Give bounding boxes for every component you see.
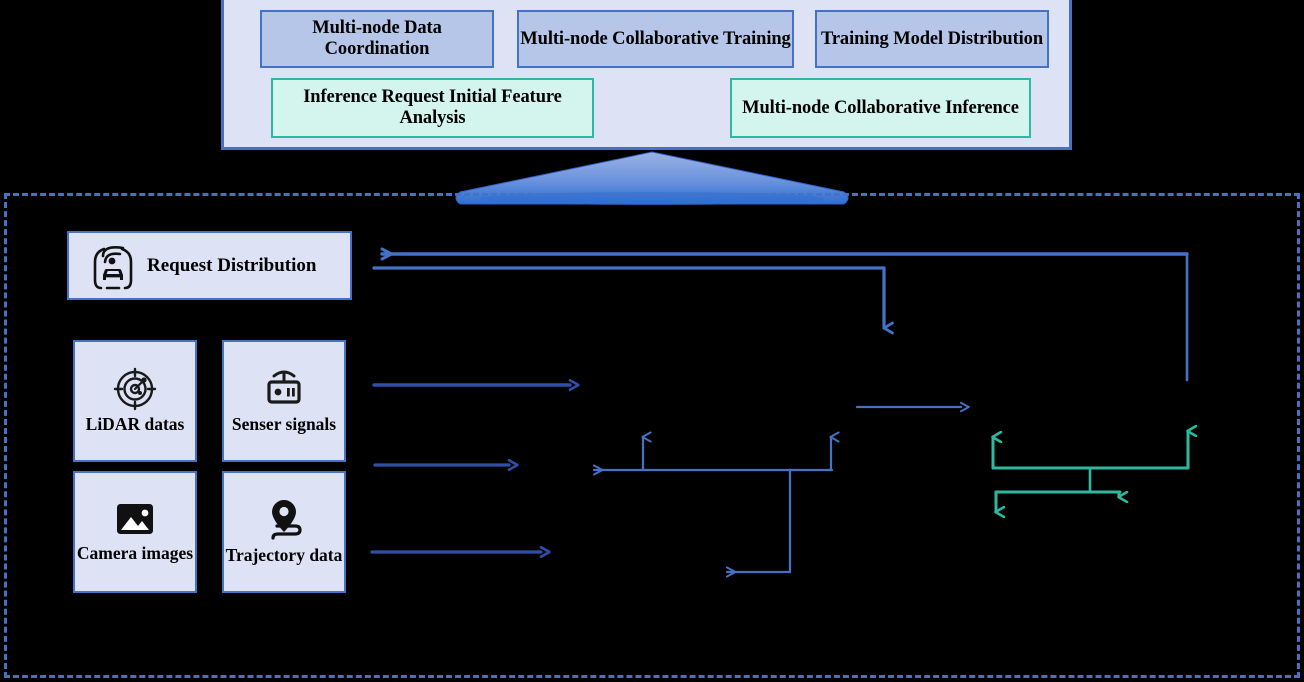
- node-label: Senser signals: [232, 415, 336, 434]
- panel-box-label: Multi-node Data Coordination: [262, 18, 492, 59]
- node-label: Trajectory data: [226, 546, 343, 565]
- node-trajectory-data[interactable]: Trajectory data: [222, 471, 346, 593]
- node-request-distribution-label: Request Distribution: [147, 255, 316, 277]
- map-pin-route-icon: [262, 498, 306, 542]
- photo-image-icon: [113, 500, 157, 540]
- node-lidar-datas[interactable]: LiDAR datas: [73, 340, 197, 462]
- diagram-canvas: Multi-node Data Coordination Multi-node …: [0, 0, 1304, 682]
- node-label: LiDAR datas: [86, 415, 185, 434]
- panel-box-label: Training Model Distribution: [821, 29, 1043, 50]
- connected-vehicle-signal-icon: [91, 242, 135, 290]
- node-senser-signals[interactable]: Senser signals: [222, 340, 346, 462]
- panel-box-multi-node-data-coordination[interactable]: Multi-node Data Coordination: [260, 10, 494, 68]
- panel-box-label: Multi-node Collaborative Inference: [742, 98, 1019, 119]
- node-label: Camera images: [77, 544, 193, 563]
- panel-box-multi-node-collaborative-inference[interactable]: Multi-node Collaborative Inference: [730, 78, 1031, 138]
- node-camera-images[interactable]: Camera images: [73, 471, 197, 593]
- radar-target-icon: [113, 367, 157, 411]
- node-request-distribution[interactable]: Request Distribution: [67, 231, 352, 300]
- panel-box-multi-node-collaborative-training[interactable]: Multi-node Collaborative Training: [517, 10, 794, 68]
- panel-box-inference-request-initial-feature-analysis[interactable]: Inference Request Initial Feature Analys…: [271, 78, 594, 138]
- cloud-control-panel: Multi-node Data Coordination Multi-node …: [221, 0, 1072, 150]
- sensor-device-icon: [262, 367, 306, 411]
- panel-box-training-model-distribution[interactable]: Training Model Distribution: [815, 10, 1049, 68]
- panel-box-label: Multi-node Collaborative Training: [520, 29, 790, 50]
- panel-box-label: Inference Request Initial Feature Analys…: [273, 87, 592, 128]
